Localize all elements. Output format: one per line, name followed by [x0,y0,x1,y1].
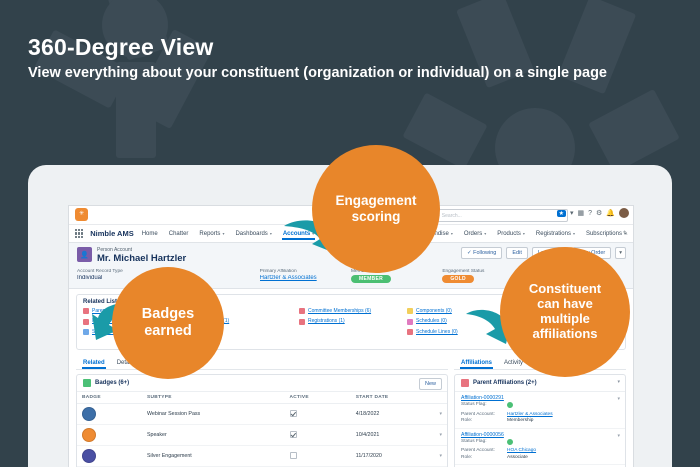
row-actions-caret-icon[interactable]: ▾ [617,433,620,439]
chevron-down-icon[interactable]: ▾ [484,231,486,236]
nav-item-label: Dashboards [235,231,267,237]
quick-link-label[interactable]: Schedules (0) [416,318,447,324]
affiliation-role-row: Role:Associate [461,455,619,461]
badges-table-header: BADGESUBTYPEACTIVESTART DATE [77,392,447,404]
record-action-following[interactable]: ✓ Following [461,247,502,259]
badge-subtype-cell: Silver Engagement [142,446,285,467]
callout-badges-line2: earned [144,323,192,339]
badge-icon [82,407,96,421]
status-badge: GOLD [442,275,474,283]
nav-item-home[interactable]: Home [141,228,159,240]
affiliation-role-row: Role:Membership [461,418,619,424]
page-title: 360-Degree View [28,36,213,59]
deco-ray-8 [588,89,680,173]
quick-link-item[interactable]: Registrations (1) [299,318,403,325]
nav-item-label: Products [497,231,521,237]
column-header[interactable]: START DATE [351,392,447,404]
badge-list-icon [83,379,91,387]
notifications-bell-icon[interactable]: 🔔 [606,209,615,217]
nav-item-label: Chatter [169,231,189,237]
table-row[interactable]: Silver Engagement11/17/2020▾ [77,446,447,467]
quick-link-item[interactable]: Committee Memberships (6) [299,308,403,315]
quick-link-label[interactable]: Registrations (1) [308,318,345,324]
field-value [507,439,513,448]
field-value [507,402,513,411]
nav-item-dashboards[interactable]: Dashboards▾ [234,228,272,240]
callout-engagement-line2: scoring [352,209,401,224]
callout-aff-line1: Constituent [529,281,601,296]
badge-active-cell [285,446,351,467]
nav-item-label: Registrations [536,231,571,237]
chevron-down-icon[interactable]: ▾ [222,231,224,236]
active-checkbox[interactable] [290,410,297,417]
row-actions-caret-icon[interactable]: ▾ [617,396,620,402]
quick-link-label[interactable]: Schedule Lines (0) [416,329,458,335]
column-header[interactable]: BADGE [77,392,142,404]
parent-affiliations-card: Parent Affiliations (2+) ▾ Affiliation-0… [454,374,626,467]
chevron-down-icon[interactable]: ▾ [617,379,620,385]
app-launcher-icon[interactable]: ▦ [577,209,584,217]
side-tab-affiliations[interactable]: Affiliations [460,358,493,369]
list-item[interactable]: Affiliation-0000291Status Flag:Parent Ac… [455,392,625,428]
status-active-icon [507,402,513,408]
row-actions-caret-icon[interactable]: ▾ [439,453,442,459]
field-value: MEMBER [351,275,442,283]
column-header[interactable]: SUBTYPE [142,392,285,404]
help-icon[interactable]: ? [588,210,592,217]
badge-subtype-cell: Webinar Session Pass [142,404,285,425]
field-label: Status Flag: [461,402,507,411]
app-name: Nimble AMS [90,229,133,238]
badge-image-cell [77,404,142,425]
record-action-[interactable]: ▾ [615,247,626,259]
parent-account-link[interactable]: HOA Chicago [507,448,536,453]
callout-aff-line4: affiliations [532,326,597,341]
status-badge: MEMBER [351,275,391,283]
related-list-icon [407,308,413,314]
callout-engagement-scoring: Engagement scoring [312,145,440,273]
affiliation-link[interactable]: Affiliation-0000056 [461,432,619,438]
badges-title: Badges (6+) [95,380,129,386]
active-checkbox[interactable] [290,452,297,459]
nav-item-reports[interactable]: Reports▾ [198,228,225,240]
nav-item-label: Subscriptions [586,231,622,237]
table-row[interactable]: Webinar Session Pass4/18/2022▾ [77,404,447,425]
quick-link-empty [299,329,403,336]
parent-account-link[interactable]: Hartzler & Associates [507,412,553,417]
field-primary-affiliation: Primary AffiliationHartzler & Associates [260,269,351,283]
affiliation-items: Affiliation-0000291Status Flag:Parent Ac… [455,392,625,467]
badge-icon [82,428,96,442]
badges-table: BADGESUBTYPEACTIVESTART DATE Webinar Ses… [77,392,447,467]
setup-gear-icon[interactable]: ⚙ [596,209,602,217]
affiliation-link[interactable]: Affiliation-0000291 [461,395,619,401]
affiliation-status-row: Status Flag: [461,439,619,448]
callout-aff-line2: can have [537,296,593,311]
nav-item-label: Home [142,231,158,237]
app-launcher-waffle-icon[interactable] [75,229,83,238]
list-item[interactable]: Affiliation-0000056Status Flag:Parent Ac… [455,429,625,465]
badge-subtype-cell: Speaker [142,425,285,446]
favorites-list-icon[interactable]: ▾ [570,209,574,217]
field-label: Status Flag: [461,439,507,448]
column-header[interactable]: ACTIVE [285,392,351,404]
badges-table-body: Webinar Session Pass4/18/2022▾Speaker10/… [77,404,447,467]
quick-link-label[interactable]: Committee Memberships (6) [308,308,371,314]
callout-badges-line1: Badges [142,306,194,322]
callout-badges-earned: Badges earned [112,267,224,379]
callout-multiple-affiliations: Constituent can have multiple affiliatio… [500,247,630,377]
salesforce-cloud-icon: ✳ [75,208,88,221]
page-subtitle: View everything about your constituent (… [28,66,607,82]
affiliations-title: Parent Affiliations (2+) [473,380,537,386]
search-input[interactable]: Search... [442,213,462,219]
field-label: Role: [461,455,507,461]
nav-item-subscriptions[interactable]: Subscriptions▾ [585,228,627,240]
related-list-icon [407,329,413,335]
nav-item-label: Reports [199,231,220,237]
field-value: Membership [507,418,533,424]
nav-item-label: Orders [464,231,482,237]
chevron-down-icon[interactable]: ▾ [451,231,453,236]
nav-item-chatter[interactable]: Chatter [168,228,190,240]
chevron-down-icon[interactable]: ▾ [270,231,272,236]
chevron-down-icon[interactable]: ▾ [573,231,575,236]
row-actions-caret-icon[interactable]: ▾ [439,432,442,438]
callout-aff-line3: multiple [540,311,590,326]
badge-icon [82,449,96,463]
main-column: RelatedDetails Badges (6+) New BADGESUBT… [76,355,448,467]
field-link[interactable]: Hartzler & Associates [260,275,317,281]
active-checkbox[interactable] [290,431,297,438]
badge-active-cell [285,425,351,446]
person-account-icon: 👤 [77,247,92,262]
nav-item-orders[interactable]: Orders▾ [463,228,487,240]
badges-related-list: Badges (6+) New BADGESUBTYPEACTIVESTART … [76,374,448,467]
badge-start-date-cell: 4/18/2022▾ [351,404,447,425]
global-header-icons: ★ ▾ ▦ ? ⚙ 🔔 [557,208,629,218]
affiliation-status-row: Status Flag: [461,402,619,411]
related-list-icon [299,308,305,314]
poster-stage: 360-Degree View View everything about yo… [0,0,700,467]
badge-image-cell [77,425,142,446]
table-row[interactable]: Speaker10/4/2021▾ [77,425,447,446]
chevron-down-icon[interactable]: ▾ [523,231,525,236]
record-action-edit[interactable]: Edit [506,247,527,259]
status-active-icon [507,439,513,445]
related-list-icon [407,319,413,325]
field-value: Associate [507,455,528,461]
badge-image-cell [77,446,142,467]
related-list-icon [299,319,305,325]
affiliation-list-icon [461,379,469,387]
badge-active-cell [285,404,351,425]
nav-item-registrations[interactable]: Registrations▾ [535,228,576,240]
field-value[interactable]: Hartzler & Associates [260,275,351,281]
edit-nav-pencil-icon[interactable]: ✎ [623,230,628,237]
callout-engagement-line1: Engagement [335,193,416,208]
nav-item-products[interactable]: Products▾ [496,228,526,240]
favorites-star-icon[interactable]: ★ [557,210,566,217]
field-label: Role: [461,418,507,424]
badge-start-date-cell: 11/17/2020▾ [351,446,447,467]
row-actions-caret-icon[interactable]: ▾ [439,411,442,417]
new-badge-button[interactable]: New [419,378,442,390]
quick-link-label[interactable]: Components (0) [416,308,452,314]
record-name: Mr. Michael Hartzler [97,254,186,264]
badge-start-date-cell: 10/4/2021▾ [351,425,447,446]
tab-related[interactable]: Related [82,358,106,369]
user-avatar[interactable] [619,208,629,218]
